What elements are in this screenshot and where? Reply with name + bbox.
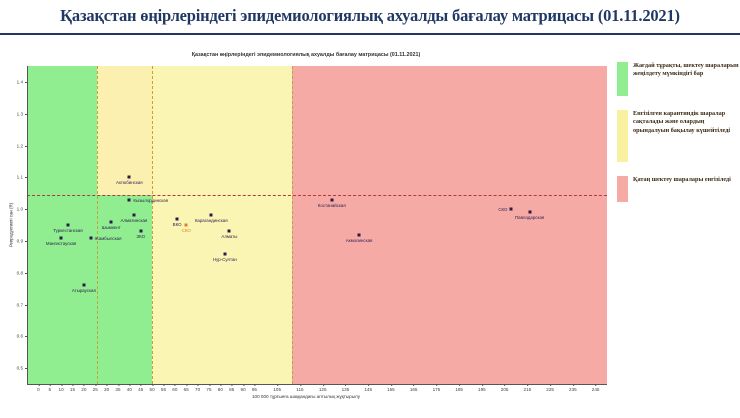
legend-swatch xyxy=(617,62,628,96)
x-tick: 135 xyxy=(342,384,350,392)
y-tick: 0.6 xyxy=(17,334,23,339)
chart-title: Қазақстан өңірлеріндегі эпидемиологиялық… xyxy=(0,52,612,58)
x-tick: 25 xyxy=(93,384,98,392)
data-point-marker xyxy=(132,214,135,217)
x-tick: 185 xyxy=(455,384,463,392)
x-tick: 35 xyxy=(115,384,120,392)
x-tick: 175 xyxy=(433,384,441,392)
y-tick-mark xyxy=(25,114,27,115)
legend-label: Жағдай тұрақты, шектеу шараларын жеңілде… xyxy=(633,62,740,79)
legend: Жағдай тұрақты, шектеу шараларын жеңілде… xyxy=(617,62,740,216)
x-tick: 235 xyxy=(569,384,577,392)
x-tick: 45 xyxy=(138,384,143,392)
data-point-label: Шымкент xyxy=(102,225,121,230)
x-tick: 195 xyxy=(478,384,486,392)
data-point-label: Акмолинская xyxy=(346,238,373,243)
y-tick: 1.0 xyxy=(17,207,23,212)
zone-boundary-3 xyxy=(292,66,293,384)
x-tick: 145 xyxy=(364,384,372,392)
x-tick: 225 xyxy=(546,384,554,392)
x-tick: 0 xyxy=(37,384,40,392)
x-tick: 165 xyxy=(410,384,418,392)
y-tick-mark xyxy=(25,336,27,337)
x-tick: 105 xyxy=(273,384,281,392)
data-point-marker xyxy=(330,198,333,201)
zone-boundary-2 xyxy=(152,66,153,384)
data-point-marker xyxy=(223,252,226,255)
y-tick-mark xyxy=(25,305,27,306)
data-point-marker xyxy=(358,233,361,236)
legend-swatch xyxy=(617,176,628,202)
zone-yellow-upper xyxy=(97,66,152,195)
legend-label: Енгізілген карантиндік шаралар сақталады… xyxy=(633,110,740,135)
y-axis xyxy=(27,66,28,384)
legend-item: Жағдай тұрақты, шектеу шараларын жеңілде… xyxy=(617,62,740,96)
threshold-line xyxy=(27,195,607,196)
x-axis xyxy=(27,384,607,385)
x-tick: 10 xyxy=(59,384,64,392)
y-tick: 1.4 xyxy=(17,79,23,84)
x-axis-label: 100 000 тұрғынға шаққандағы аптылық жұқт… xyxy=(0,394,612,399)
y-tick: 1.1 xyxy=(17,175,23,180)
x-tick: 80 xyxy=(218,384,223,392)
x-tick: 205 xyxy=(501,384,509,392)
page-header: Қазақстан өңірлеріндегі эпидемиологиялық… xyxy=(0,0,740,34)
data-point-label: Павлодарская xyxy=(515,215,544,220)
data-point-marker xyxy=(110,220,113,223)
x-tick: 5 xyxy=(48,384,51,392)
y-tick: 0.9 xyxy=(17,238,23,243)
y-tick-mark xyxy=(25,209,27,210)
y-tick: 0.8 xyxy=(17,270,23,275)
y-tick-mark xyxy=(25,273,27,274)
data-point-marker xyxy=(510,208,513,211)
y-tick: 0.7 xyxy=(17,302,23,307)
data-point-label: Карагандинская xyxy=(195,218,228,223)
x-tick: 215 xyxy=(524,384,532,392)
data-point-marker xyxy=(176,217,179,220)
data-point-label: СКО xyxy=(182,228,191,233)
chart-area: Қазақстан өңірлеріндегі эпидемиологиялық… xyxy=(0,36,740,418)
data-point-label: Мангистауская xyxy=(46,241,76,246)
x-tick: 40 xyxy=(127,384,132,392)
data-point-label: ВКО xyxy=(173,222,182,227)
x-tick: 245 xyxy=(592,384,600,392)
data-point-marker xyxy=(66,224,69,227)
data-point-label: Кызылординская xyxy=(133,198,168,203)
x-tick: 75 xyxy=(206,384,211,392)
header-divider xyxy=(0,33,740,35)
legend-item: Енгізілген карантиндік шаралар сақталады… xyxy=(617,110,740,162)
data-point-label: Актюбинская xyxy=(116,180,143,185)
data-point-marker xyxy=(128,176,131,179)
data-point-label: Алматинская xyxy=(121,218,148,223)
legend-swatch xyxy=(617,110,628,162)
legend-label: Қатаң шектеу шаралары енгізіледі xyxy=(633,176,731,184)
y-tick: 1.2 xyxy=(17,143,23,148)
x-tick: 15 xyxy=(70,384,75,392)
y-tick-mark xyxy=(25,82,27,83)
data-point-marker xyxy=(210,214,213,217)
y-tick: 0.5 xyxy=(17,366,23,371)
data-point-marker xyxy=(82,284,85,287)
data-point-label: Атырауская xyxy=(72,288,96,293)
data-point-marker xyxy=(89,236,92,239)
data-point-marker xyxy=(228,230,231,233)
x-tick: 50 xyxy=(150,384,155,392)
y-tick: 1.3 xyxy=(17,111,23,116)
x-tick: 65 xyxy=(184,384,189,392)
x-tick: 70 xyxy=(195,384,200,392)
y-tick-mark xyxy=(25,241,27,242)
y-tick-mark xyxy=(25,177,27,178)
data-point-marker xyxy=(139,230,142,233)
data-point-label: Нур-Султан xyxy=(213,257,237,262)
legend-item: Қатаң шектеу шаралары енгізіледі xyxy=(617,176,740,202)
x-tick: 155 xyxy=(387,384,395,392)
page-title: Қазақстан өңірлеріндегі эпидемиологиялық… xyxy=(0,6,740,26)
data-point-marker xyxy=(185,224,188,227)
data-point-marker xyxy=(528,211,531,214)
y-tick-mark xyxy=(25,146,27,147)
zone-red xyxy=(292,66,607,384)
data-point-marker xyxy=(60,236,63,239)
x-tick: 30 xyxy=(104,384,109,392)
zone-boundary-1 xyxy=(97,66,98,384)
data-point-label: Жамбылская xyxy=(95,236,122,241)
x-tick: 95 xyxy=(252,384,257,392)
data-point-label: СКО xyxy=(498,207,507,212)
x-tick: 60 xyxy=(172,384,177,392)
plot-canvas: 0510152025303540455055606570758085909510… xyxy=(27,66,607,384)
y-tick-mark xyxy=(25,368,27,369)
y-axis-label: Репродуктивті сан (R) xyxy=(9,203,14,247)
x-tick: 115 xyxy=(296,384,303,392)
data-point-marker xyxy=(128,198,131,201)
x-tick: 20 xyxy=(81,384,86,392)
x-tick: 90 xyxy=(241,384,246,392)
x-tick: 85 xyxy=(229,384,234,392)
data-point-label: Туркестанская xyxy=(53,228,83,233)
x-tick: 125 xyxy=(319,384,327,392)
x-tick: 55 xyxy=(161,384,166,392)
data-point-label: Алматы xyxy=(221,234,237,239)
data-point-label: ЗКО xyxy=(136,234,145,239)
data-point-label: Костанайская xyxy=(318,203,346,208)
